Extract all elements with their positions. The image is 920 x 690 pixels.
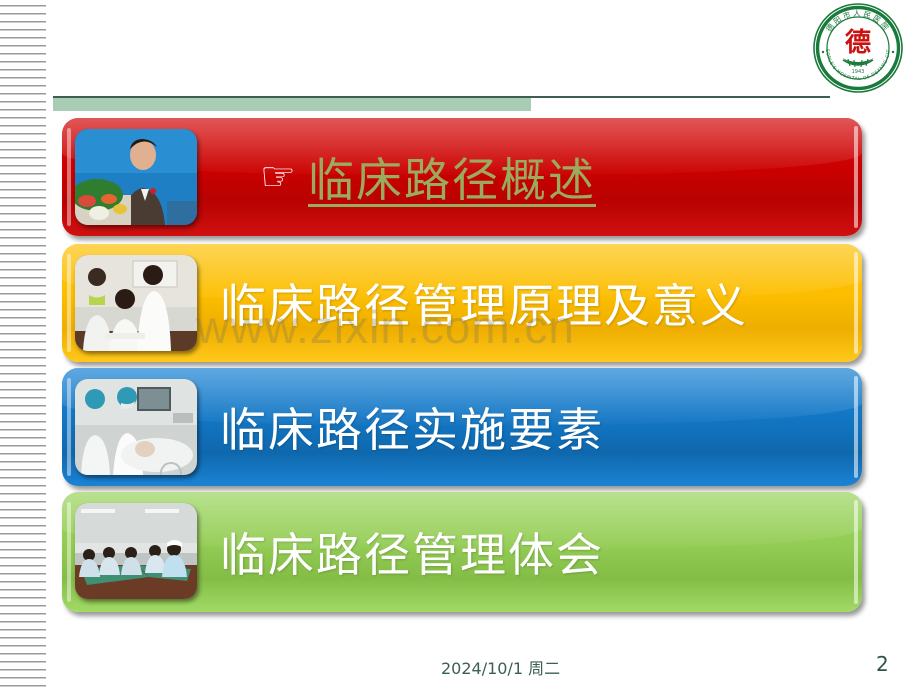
pointer-hand-icon: ☞ [260,157,296,197]
doctors-reviewing-chart-photo [75,255,197,351]
header-accent-band [53,98,531,111]
agenda-item-3-label: 临床路径实施要素 [220,368,604,486]
bar-right-edge-highlight [854,126,858,228]
agenda-item-3[interactable]: 临床路径实施要素 [62,368,862,486]
footer-page-number: 2 [876,652,889,676]
svg-text:德: 德 [845,28,871,58]
bar-right-edge-highlight [854,376,858,478]
agenda-item-1-label: 临床路径概述 [308,118,596,236]
speaker-at-podium-photo [75,129,197,225]
bar-left-edge-highlight [67,502,71,602]
agenda-item-2[interactable]: 临床路径管理原理及意义 [62,244,862,362]
left-margin-gap [46,0,53,690]
bar-left-edge-highlight [67,378,71,476]
agenda-item-2-label: 临床路径管理原理及意义 [220,244,748,362]
svg-text:1943: 1943 [852,69,865,75]
hospital-logo: 德阳市人民医院 PEOPLE'S HOSPITAL OF DEYANG CITY… [812,2,904,94]
bar-right-edge-highlight [854,252,858,354]
bar-right-edge-highlight [854,500,858,604]
surgical-team-photo [75,379,197,475]
footer-date: 2024/10/1 周二 [441,655,560,679]
bar-left-edge-highlight [67,254,71,352]
staff-meeting-photo [75,503,197,599]
bar-left-edge-highlight [67,128,71,226]
left-stripe-decoration [0,0,46,690]
slide-canvas: 德阳市人民医院 PEOPLE'S HOSPITAL OF DEYANG CITY… [0,0,920,690]
agenda-item-1[interactable]: ☞ 临床路径概述 [62,118,862,236]
agenda-item-4[interactable]: 临床路径管理体会 [62,492,862,612]
agenda-item-4-label: 临床路径管理体会 [220,492,604,612]
